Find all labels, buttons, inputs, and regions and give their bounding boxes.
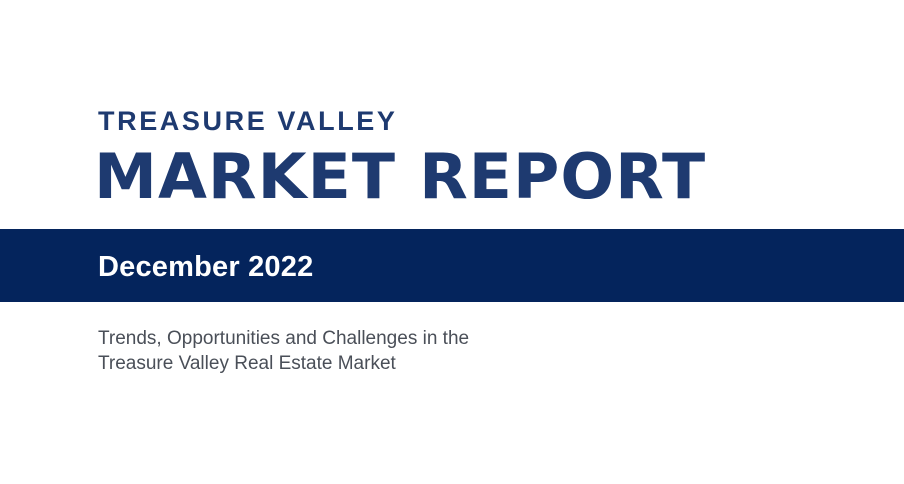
date-banner: December 2022 xyxy=(0,229,904,302)
report-cover-page: TREASURE VALLEY MARKET REPORT December 2… xyxy=(0,0,904,484)
page-title: MARKET REPORT xyxy=(94,145,706,209)
report-subtitle: Trends, Opportunities and Challenges in … xyxy=(98,326,658,376)
report-date-label: December 2022 xyxy=(98,251,313,283)
report-eyebrow-heading: TREASURE VALLEY xyxy=(98,106,398,136)
report-subtitle-line-1: Trends, Opportunities and Challenges in … xyxy=(98,326,658,351)
report-subtitle-line-2: Treasure Valley Real Estate Market xyxy=(98,351,658,376)
